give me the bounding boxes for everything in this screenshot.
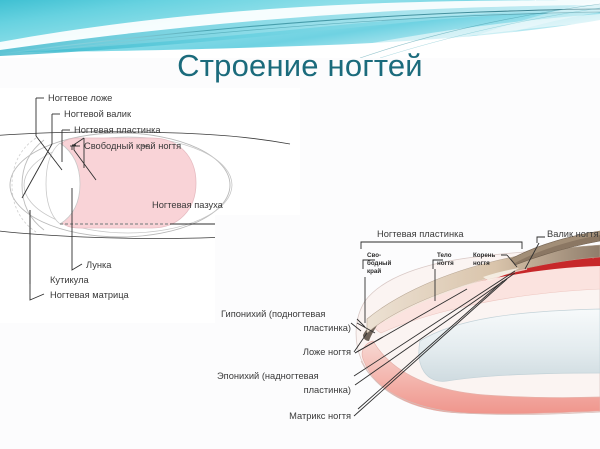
label-free-edge-line1: Сво- (367, 252, 381, 259)
label-free-edge: Свободный край ногтя (84, 141, 181, 151)
label-nail-root-line2: ногтя (473, 260, 490, 267)
label-nail-bed-right: Ложе ногтя (303, 347, 351, 357)
presentation-slide: Строение ногтей (0, 0, 600, 449)
label-nail-matrix-right: Матрикс ногтя (289, 411, 351, 421)
label-eponychium-line2: пластинка) (304, 385, 351, 395)
label-free-edge-line2: бодный (367, 260, 391, 267)
label-cuticle: Кутикула (50, 275, 90, 285)
nail-cross-section-figure: Ногтевая пластинка Сво- бодный край Тело… (215, 215, 600, 430)
label-nail-body-line1: Тело (437, 252, 452, 259)
label-hyponychium-line2: пластинка) (304, 323, 351, 333)
label-nail-root-line1: Корень (473, 252, 496, 259)
label-nail-fold-right: Валик ногтя (547, 229, 599, 239)
label-nail-matrix: Ногтевая матрица (50, 290, 130, 300)
label-hyponychium-line1: Гипонихий (подногтевая (221, 309, 325, 319)
label-nail-body-line2: ногтя (437, 260, 454, 267)
label-nail-plate: Ногтевая пластинка (74, 125, 161, 135)
label-nail-plate-bracket: Ногтевая пластинка (377, 229, 464, 239)
label-eponychium-line1: Эпонихий (надногтевая (217, 371, 319, 381)
label-nail-fold: Ногтевой валик (64, 109, 132, 119)
label-nail-sinus: Ногтевая пазуха (152, 200, 224, 210)
label-lunula: Лунка (86, 260, 112, 270)
label-free-edge-line3: край (367, 268, 381, 275)
label-nail-bed: Ногтевое ложе (48, 93, 112, 103)
page-title: Строение ногтей (0, 48, 600, 84)
